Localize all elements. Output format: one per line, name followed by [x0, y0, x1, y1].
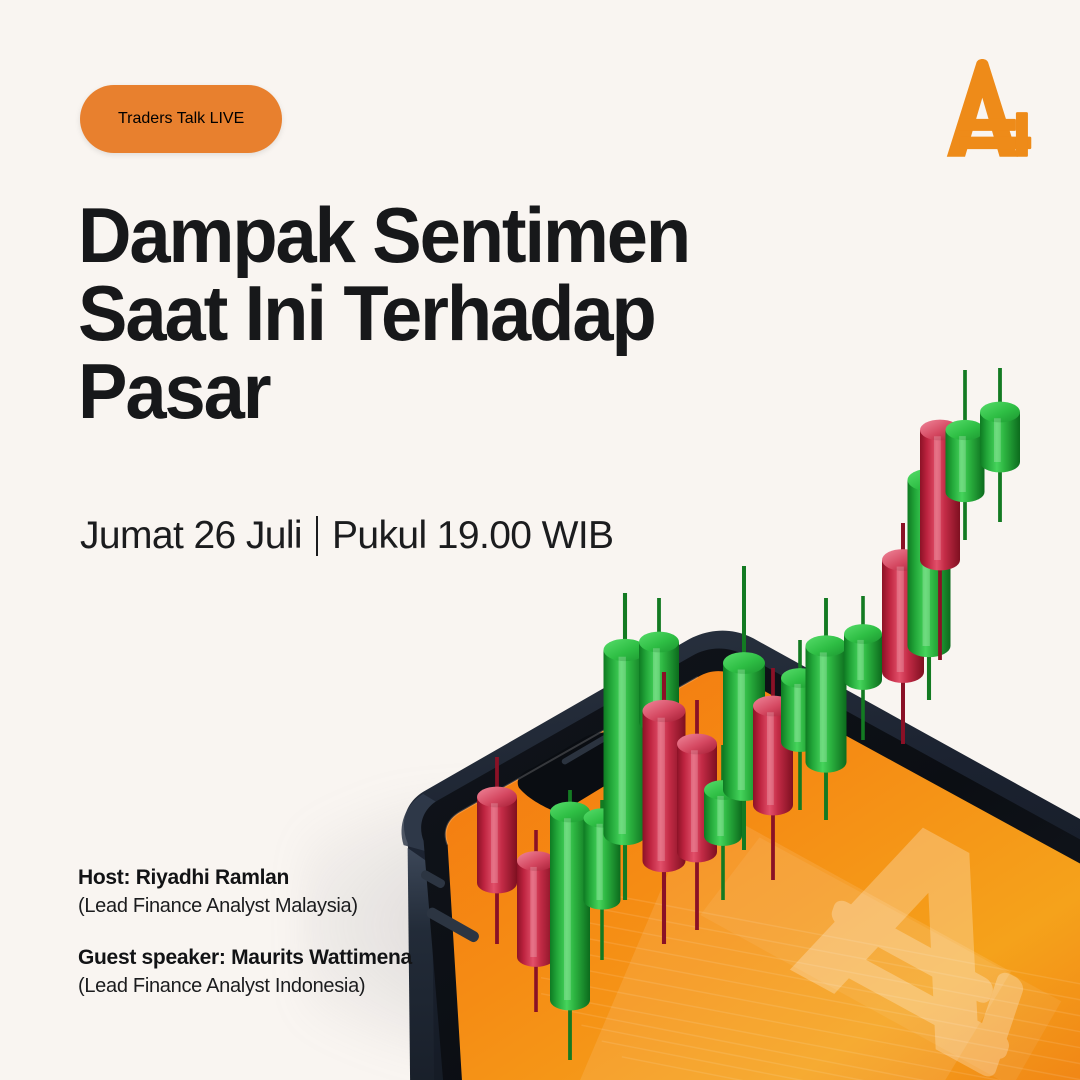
live-badge-label: Traders Talk LIVE [118, 110, 244, 128]
page-title-line-1: Dampak Sentimen [78, 196, 800, 274]
page-title: Dampak Sentimen Saat Ini Terhadap Pasar [78, 196, 838, 430]
credit-host-name: Host: Riyadhi Ramlan [78, 866, 412, 890]
page-title-line-3: Pasar [78, 352, 800, 430]
brand-logo [942, 58, 1038, 162]
credit-guest-role: (Lead Finance Analyst Indonesia) [78, 975, 412, 998]
page-title-line-2: Saat Ini Terhadap [78, 274, 800, 352]
credit-host-role: (Lead Finance Analyst Malaysia) [78, 895, 412, 918]
schedule-separator [316, 516, 318, 556]
credit-guest: Guest speaker: Maurits Wattimena (Lead F… [78, 946, 412, 998]
live-badge[interactable]: Traders Talk LIVE [80, 85, 282, 153]
credit-host: Host: Riyadhi Ramlan (Lead Finance Analy… [78, 866, 412, 918]
poster-canvas: Traders Talk LIVE Dampak Sentimen Saat I… [0, 0, 1080, 1080]
speaker-credits: Host: Riyadhi Ramlan (Lead Finance Analy… [78, 866, 412, 1026]
schedule-line: Jumat 26 Juli Pukul 19.00 WIB [80, 514, 613, 558]
candle-19-up [980, 368, 1020, 522]
schedule-date: Jumat 26 Juli [80, 514, 302, 558]
schedule-time: Pukul 19.00 WIB [332, 514, 613, 558]
credit-guest-name: Guest speaker: Maurits Wattimena [78, 946, 412, 970]
octa-a-logo-icon [942, 58, 1038, 162]
